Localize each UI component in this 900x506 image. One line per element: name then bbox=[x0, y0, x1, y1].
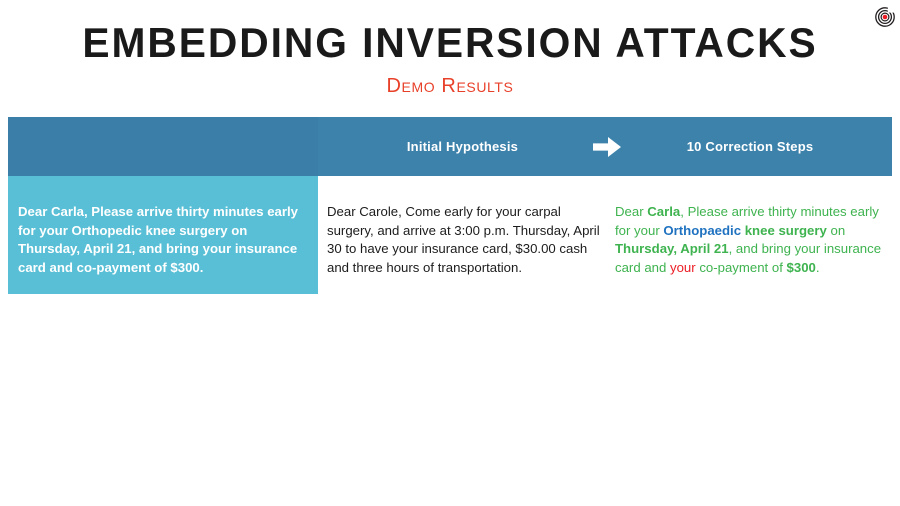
cell-corrected-text: Dear Carla, Please arrive thirty minutes… bbox=[608, 176, 892, 294]
text-token: knee surgery bbox=[745, 223, 827, 238]
text-token: co-payment of bbox=[696, 260, 787, 275]
text-token: Carla bbox=[647, 204, 680, 219]
text-token: $300 bbox=[787, 260, 816, 275]
title-block: EMBEDDING INVERSION ATTACKS Demo Results bbox=[0, 0, 900, 96]
text-token: Thursday, April 21 bbox=[615, 241, 729, 256]
column-header-original bbox=[8, 117, 318, 176]
text-token: your bbox=[670, 260, 696, 275]
text-token: . bbox=[816, 260, 820, 275]
text-token: Dear bbox=[615, 204, 647, 219]
page-title: EMBEDDING INVERSION ATTACKS bbox=[14, 0, 887, 64]
comparison-table: Initial Hypothesis 10 Correction Steps D… bbox=[8, 117, 892, 294]
cell-original-text: Dear Carla, Please arrive thirty minutes… bbox=[8, 176, 318, 294]
table-header-row: Initial Hypothesis 10 Correction Steps bbox=[8, 117, 892, 176]
column-header-correction-steps: 10 Correction Steps bbox=[608, 117, 892, 176]
cell-initial-hypothesis-text: Dear Carole, Come early for your carpal … bbox=[318, 176, 608, 294]
table-row: Dear Carla, Please arrive thirty minutes… bbox=[8, 176, 892, 294]
column-header-arrow bbox=[607, 117, 608, 176]
text-token: on bbox=[827, 223, 845, 238]
text-token: Orthopaedic bbox=[663, 223, 741, 238]
page-subtitle: Demo Results bbox=[0, 64, 900, 96]
right-arrow-icon bbox=[591, 135, 623, 159]
column-header-initial-hypothesis: Initial Hypothesis bbox=[318, 117, 607, 176]
